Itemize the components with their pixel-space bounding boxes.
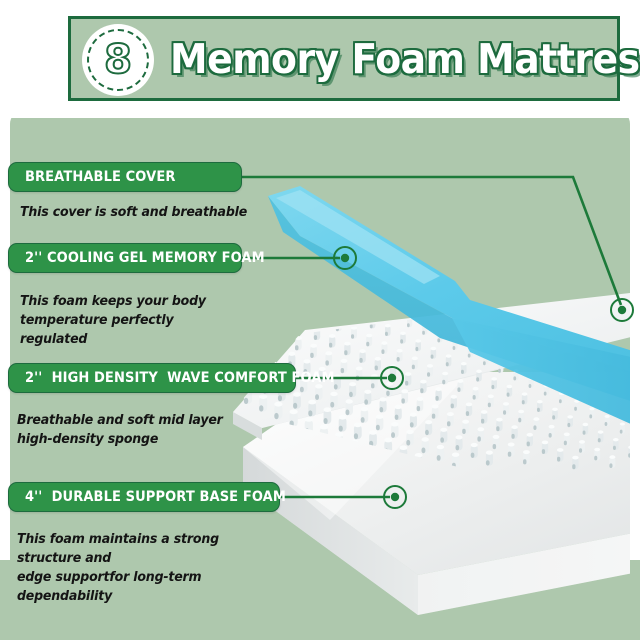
callout-label-text: BREATHABLE COVER xyxy=(25,169,175,185)
header-band: 8 Memory Foam Mattress xyxy=(0,0,640,118)
page-title: Memory Foam Mattress xyxy=(170,28,575,90)
callout-label-cooling-gel-memory-foam[interactable]: 2'' COOLING GEL MEMORY FOAM xyxy=(8,243,242,273)
callout-label-text: 2'' HIGH DENSITY WAVE COMFORT FOAM xyxy=(25,370,335,386)
callout-description-high-density-wave-comfort-foam: Breathable and soft mid layer high-densi… xyxy=(17,411,240,449)
badge-number: 8 xyxy=(82,24,154,96)
callout-description-breathable-cover: This cover is soft and breathable xyxy=(20,203,262,222)
infographic-page: BREATHABLE COVER This cover is soft and … xyxy=(0,0,640,640)
callout-label-text: 4'' DURABLE SUPPORT BASE FOAM xyxy=(25,489,286,505)
callout-description-durable-support-base-foam: This foam maintains a strong structure a… xyxy=(17,530,287,606)
marker-breathable-cover xyxy=(611,299,633,321)
connector-breathable-cover xyxy=(240,177,621,305)
callout-description-cooling-gel-memory-foam: This foam keeps your body temperature pe… xyxy=(20,292,243,349)
callout-label-text: 2'' COOLING GEL MEMORY FOAM xyxy=(25,250,265,266)
callout-label-high-density-wave-comfort-foam[interactable]: 2'' HIGH DENSITY WAVE COMFORT FOAM xyxy=(8,363,296,393)
callout-label-durable-support-base-foam[interactable]: 4'' DURABLE SUPPORT BASE FOAM xyxy=(8,482,280,512)
step-badge: 8 xyxy=(82,24,154,96)
callout-label-breathable-cover[interactable]: BREATHABLE COVER xyxy=(8,162,242,192)
